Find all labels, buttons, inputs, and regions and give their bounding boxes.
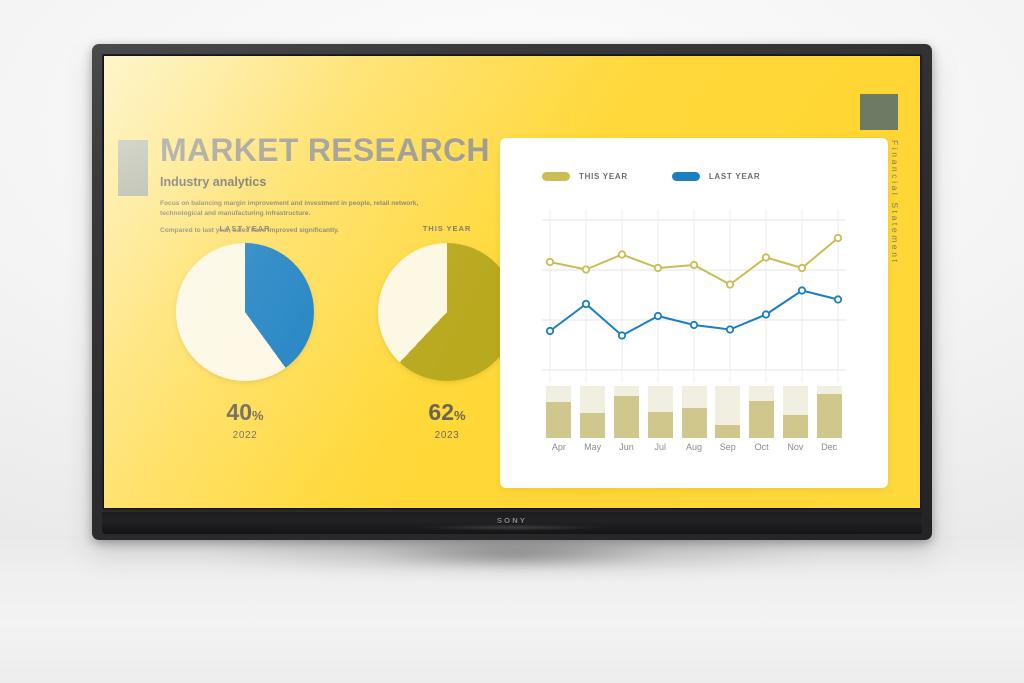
bar-column (576, 386, 610, 438)
legend-label-this-year: THIS YEAR (579, 172, 628, 181)
pie-percent-symbol-this-year: % (454, 408, 466, 423)
bar-fill (749, 401, 774, 438)
bar-fill (682, 408, 707, 438)
bar-track (580, 386, 605, 438)
bar-track (546, 386, 571, 438)
legend-swatch-last-year (672, 172, 700, 181)
page-subtitle: Industry analytics (160, 175, 530, 189)
bar-column (643, 386, 677, 438)
tv-ir-sensor (392, 524, 632, 531)
bar-track (715, 386, 740, 438)
bar-column (778, 386, 812, 438)
pie-percent-value-this-year: 62 (428, 399, 454, 425)
bar-fill (817, 394, 842, 438)
bar-column (711, 386, 745, 438)
bar-column (812, 386, 846, 438)
bar-fill (715, 425, 740, 438)
top-right-accent-rectangle (860, 94, 898, 130)
tv-stand-shadow (330, 540, 700, 574)
legend-item-last-year: LAST YEAR (672, 172, 761, 181)
month-label: Aug (677, 442, 711, 452)
left-accent-rectangle (118, 140, 148, 196)
pie-percent-value-last-year: 40 (226, 399, 252, 425)
bar-column (745, 386, 779, 438)
pie-chart-last-year (176, 243, 314, 381)
month-axis-labels: AprMayJunJulAugSepOctNovDec (542, 442, 846, 452)
bar-track (783, 386, 808, 438)
month-label: Dec (812, 442, 846, 452)
legend-label-last-year: LAST YEAR (709, 172, 761, 181)
bar-column (677, 386, 711, 438)
bar-column (610, 386, 644, 438)
month-label: Jun (610, 442, 644, 452)
pie-percent-symbol-last-year: % (252, 408, 264, 423)
tv-brand-logo: SONY (102, 516, 922, 525)
chart-card: THIS YEAR LAST YEAR AprMayJunJulAugSepOc… (500, 138, 888, 488)
bar-fill (783, 415, 808, 438)
pie-block-last-year: LAST YEAR 40% 2022 (160, 224, 330, 441)
pie-chart-group: LAST YEAR 40% 2022 THIS YEAR 62% 2023 (160, 224, 532, 484)
body-paragraph-1: Focus on balancing margin improvement an… (160, 199, 452, 219)
bar-track (614, 386, 639, 438)
bar-track (648, 386, 673, 438)
chart-legend: THIS YEAR LAST YEAR (542, 172, 760, 181)
bar-track (682, 386, 707, 438)
bar-track (817, 386, 842, 438)
side-label-text: Financial Statement (890, 140, 900, 265)
presentation-slide: Financial Statement MARKET RESEARCH Indu… (104, 56, 920, 508)
tv-bezel: Financial Statement MARKET RESEARCH Indu… (102, 54, 922, 510)
bar-fill (648, 412, 673, 438)
legend-item-this-year: THIS YEAR (542, 172, 628, 181)
pie-year-last-year: 2022 (160, 430, 330, 441)
line-chart-plot (542, 210, 846, 382)
legend-swatch-this-year (542, 172, 570, 181)
tv-screen: Financial Statement MARKET RESEARCH Indu… (104, 56, 920, 508)
page-title: MARKET RESEARCH (160, 134, 530, 166)
bar-column (542, 386, 576, 438)
month-label: Nov (778, 442, 812, 452)
bar-fill (614, 396, 639, 438)
month-label: Jul (643, 442, 677, 452)
month-label: Oct (745, 442, 779, 452)
bar-fill (546, 402, 571, 438)
month-label: May (576, 442, 610, 452)
tv-chin: SONY (102, 512, 922, 534)
month-label: Sep (711, 442, 745, 452)
television: Financial Statement MARKET RESEARCH Indu… (92, 44, 932, 540)
bar-fill (580, 413, 605, 438)
month-label: Apr (542, 442, 576, 452)
pie-label-last-year: LAST YEAR (160, 224, 330, 233)
pie-percent-last-year: 40% (160, 401, 330, 424)
bar-chart-row (542, 386, 846, 438)
pie-chart-this-year (378, 243, 516, 381)
bar-track (749, 386, 774, 438)
